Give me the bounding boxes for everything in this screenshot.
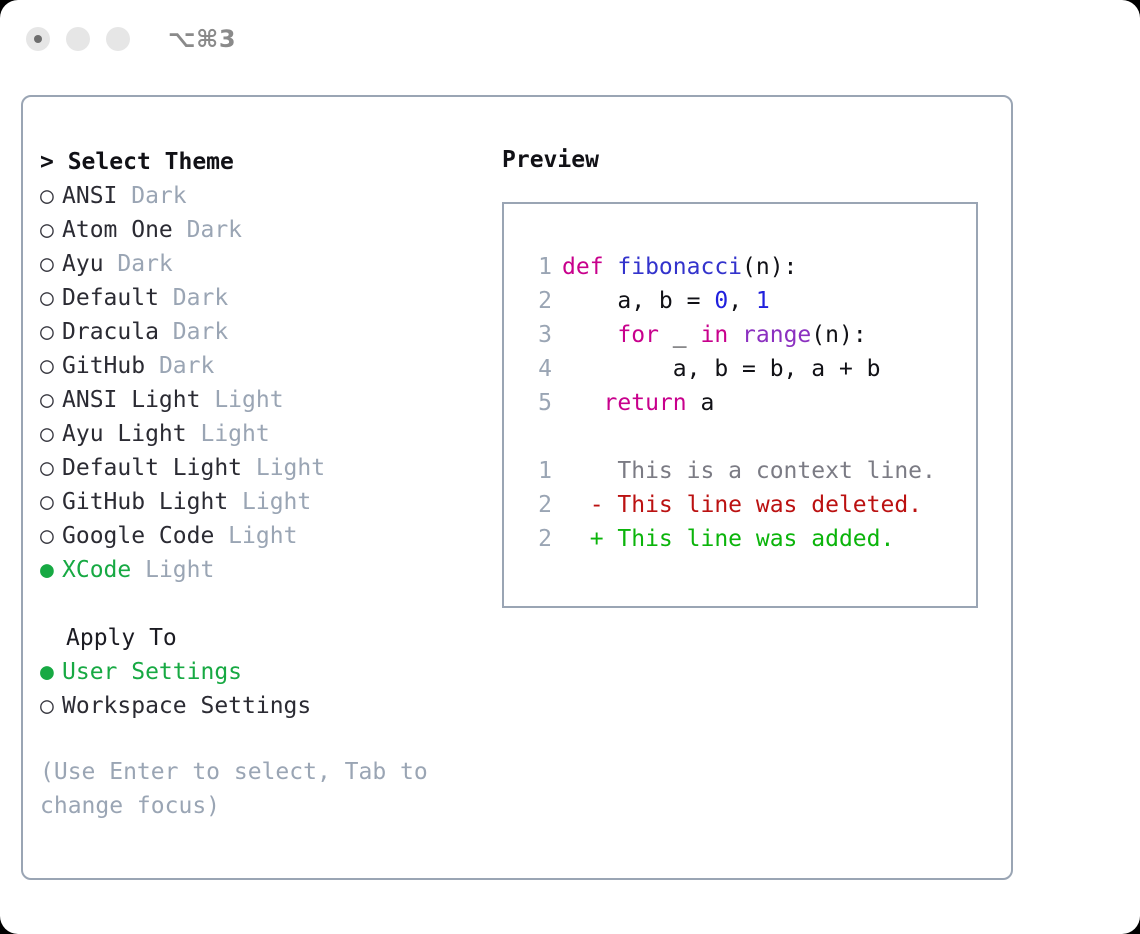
theme-option-variant-tag: Dark (145, 353, 214, 379)
code-line-number: 4 (524, 352, 552, 386)
diff-sample: 1 This is a context line.2 - This line w… (504, 454, 976, 556)
window-dot-second[interactable] (66, 27, 90, 51)
code-token-fn: fibonacci (617, 254, 742, 280)
theme-option-variant-tag: Dark (117, 183, 186, 209)
theme-option-github[interactable]: ○GitHub Dark (40, 349, 490, 383)
radio-unselected-icon: ○ (40, 349, 62, 383)
code-indent (562, 390, 604, 416)
keyboard-hint: (Use Enter to select, Tab to change focu… (40, 755, 445, 823)
theme-selector-column: > Select Theme ○ANSI Dark○Atom One Dark○… (40, 145, 490, 823)
theme-option-ansi[interactable]: ○ANSI Dark (40, 179, 490, 213)
code-token-pl: _ (659, 322, 701, 348)
code-token-pl: a, b = (617, 288, 714, 314)
apply-to-option-label: User Settings (62, 659, 242, 685)
radio-selected-icon: ● (40, 553, 62, 587)
terminal-window: ⌥⌘3 > Select Theme ○ANSI Dark○Atom One D… (0, 0, 1140, 934)
diff-line-ctx: 1 This is a context line. (504, 454, 976, 488)
diff-text: This is a context line. (617, 458, 936, 484)
code-indent (562, 288, 617, 314)
theme-option-variant-tag: Light (200, 387, 283, 413)
theme-option-variant-tag: Dark (173, 217, 242, 243)
radio-unselected-icon: ○ (40, 519, 62, 553)
theme-option-label: Dracula (62, 319, 159, 345)
theme-option-variant-tag: Light (187, 421, 270, 447)
diff-marker: - (562, 492, 617, 518)
code-line-number: 1 (524, 250, 552, 284)
code-token-kw: for (617, 322, 659, 348)
theme-option-variant-tag: Light (214, 523, 297, 549)
theme-option-label: Ayu Light (62, 421, 187, 447)
diff-marker: + (562, 526, 617, 552)
diff-text: This line was deleted. (617, 492, 922, 518)
preview-box: 1def fibonacci(n):2 a, b = 0, 13 for _ i… (502, 202, 978, 608)
window-dot-third[interactable] (106, 27, 130, 51)
code-line: 5 return a (504, 386, 976, 420)
code-token-num: 0 (714, 288, 728, 314)
theme-option-ayu[interactable]: ○Ayu Dark (40, 247, 490, 281)
theme-option-atom-one[interactable]: ○Atom One Dark (40, 213, 490, 247)
code-token-pl: (n): (742, 254, 797, 280)
theme-option-label: Default (62, 285, 159, 311)
theme-header-prefix: > (40, 149, 68, 175)
code-token-kw: return (604, 390, 687, 416)
radio-unselected-icon: ○ (40, 451, 62, 485)
code-token-pl (728, 322, 742, 348)
theme-option-label: Google Code (62, 523, 214, 549)
code-diff-gap (504, 420, 976, 454)
theme-option-label: XCode (62, 557, 131, 583)
radio-unselected-icon: ○ (40, 689, 62, 723)
theme-option-label: Default Light (62, 455, 242, 481)
code-token-pl: (n): (811, 322, 866, 348)
code-token-pl: , (728, 288, 756, 314)
code-line: 4 a, b = b, a + b (504, 352, 976, 386)
theme-option-variant-tag: Dark (159, 319, 228, 345)
diff-line-number: 2 (524, 488, 552, 522)
diff-line-del: 2 - This line was deleted. (504, 488, 976, 522)
radio-unselected-icon: ○ (40, 213, 62, 247)
diff-line-add: 2 + This line was added. (504, 522, 976, 556)
theme-option-label: GitHub (62, 353, 145, 379)
preview-title: Preview (502, 145, 1002, 175)
radio-unselected-icon: ○ (40, 247, 62, 281)
theme-option-label: ANSI Light (62, 387, 200, 413)
theme-option-dracula[interactable]: ○Dracula Dark (40, 315, 490, 349)
theme-option-label: GitHub Light (62, 489, 228, 515)
radio-unselected-icon: ○ (40, 281, 62, 315)
active-dot-inner (34, 35, 42, 43)
code-token-kw: in (700, 322, 728, 348)
code-line-number: 3 (524, 318, 552, 352)
theme-option-label: Atom One (62, 217, 173, 243)
shortcut-label: ⌥⌘3 (168, 25, 236, 53)
code-token-num: 1 (756, 288, 770, 314)
theme-option-label: ANSI (62, 183, 117, 209)
code-line: 2 a, b = 0, 1 (504, 284, 976, 318)
theme-option-ansi-light[interactable]: ○ANSI Light Light (40, 383, 490, 417)
theme-option-xcode[interactable]: ●XCode Light (40, 553, 490, 587)
radio-selected-icon: ● (40, 655, 62, 689)
code-line: 1def fibonacci(n): (504, 250, 976, 284)
code-token-pl: a (687, 390, 715, 416)
preview-column: Preview 1def fibonacci(n):2 a, b = 0, 13… (502, 145, 1002, 608)
theme-option-variant-tag: Dark (159, 285, 228, 311)
panel-columns: > Select Theme ○ANSI Dark○Atom One Dark○… (23, 97, 1011, 878)
radio-unselected-icon: ○ (40, 417, 62, 451)
radio-unselected-icon: ○ (40, 485, 62, 519)
code-indent (562, 322, 617, 348)
diff-marker (562, 458, 617, 484)
radio-unselected-icon: ○ (40, 179, 62, 213)
theme-list-header: > Select Theme (40, 145, 490, 179)
diff-line-number: 2 (524, 522, 552, 556)
section-spacer (40, 587, 490, 621)
code-sample: 1def fibonacci(n):2 a, b = 0, 13 for _ i… (504, 250, 976, 420)
theme-option-variant-tag: Light (228, 489, 311, 515)
theme-option-label: Ayu (62, 251, 104, 277)
theme-option-default[interactable]: ○Default Dark (40, 281, 490, 315)
radio-unselected-icon: ○ (40, 315, 62, 349)
radio-unselected-icon: ○ (40, 383, 62, 417)
window-dot-active[interactable] (26, 27, 50, 51)
theme-option-google-code[interactable]: ○Google Code Light (40, 519, 490, 553)
code-line: 3 for _ in range(n): (504, 318, 976, 352)
code-line-number: 2 (524, 284, 552, 318)
theme-option-variant-tag: Dark (104, 251, 173, 277)
code-indent (562, 356, 673, 382)
theme-option-github-light[interactable]: ○GitHub Light Light (40, 485, 490, 519)
theme-header-label: Select Theme (68, 149, 234, 175)
apply-to-header: Apply To (40, 621, 490, 655)
theme-option-variant-tag: Light (131, 557, 214, 583)
theme-option-default-light[interactable]: ○Default Light Light (40, 451, 490, 485)
theme-option-ayu-light[interactable]: ○Ayu Light Light (40, 417, 490, 451)
theme-option-variant-tag: Light (242, 455, 325, 481)
main-panel: > Select Theme ○ANSI Dark○Atom One Dark○… (21, 95, 1013, 880)
apply-to-option-label: Workspace Settings (62, 693, 311, 719)
apply-to-list: ●User Settings○Workspace Settings (40, 655, 490, 723)
diff-line-number: 1 (524, 454, 552, 488)
code-token-pl: a, b = b, a + b (673, 356, 881, 382)
code-token-kw: def (562, 254, 617, 280)
code-token-bi: range (742, 322, 811, 348)
apply-to-option-user-settings[interactable]: ●User Settings (40, 655, 490, 689)
theme-list: ○ANSI Dark○Atom One Dark○Ayu Dark○Defaul… (40, 179, 490, 587)
apply-to-option-workspace-settings[interactable]: ○Workspace Settings (40, 689, 490, 723)
code-line-number: 5 (524, 386, 552, 420)
titlebar: ⌥⌘3 (0, 0, 1140, 78)
diff-text: This line was added. (617, 526, 894, 552)
